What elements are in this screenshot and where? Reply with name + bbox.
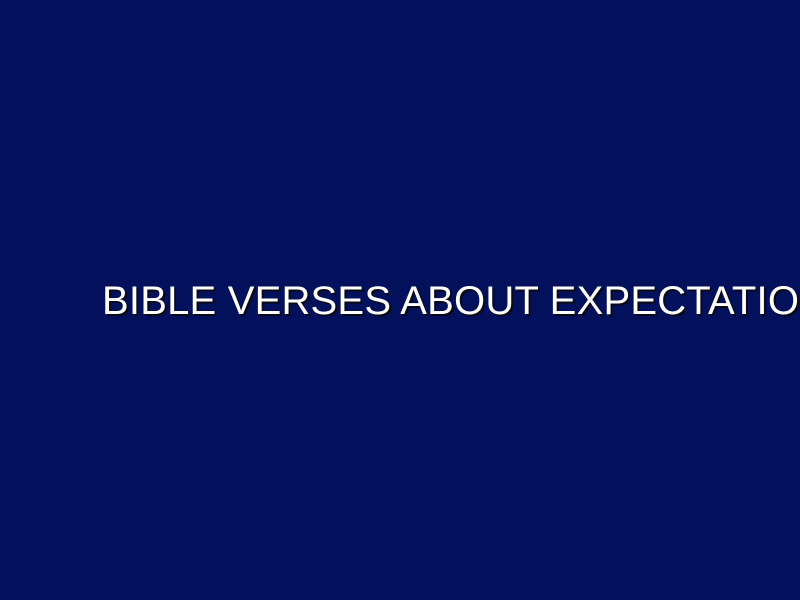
headline-block: BIBLE VERSES ABOUT EXPECTATION: [0, 0, 800, 600]
page-title: BIBLE VERSES ABOUT EXPECTATION: [102, 280, 800, 323]
title-card: BIBLE VERSES ABOUT EXPECTATION: [0, 0, 800, 600]
